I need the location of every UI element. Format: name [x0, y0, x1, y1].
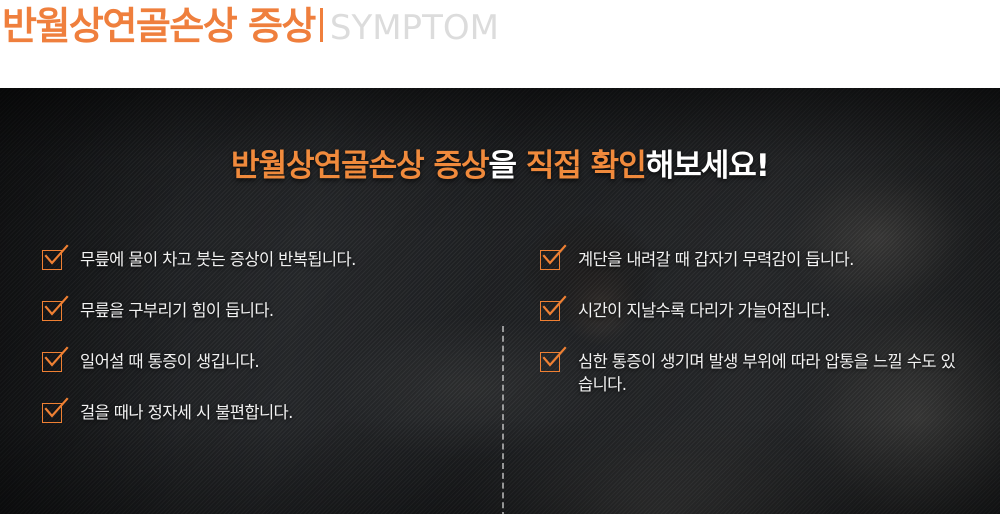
- list-item-label: 심한 통증이 생기며 발생 부위에 따라 압통을 느낄 수도 있습니다.: [578, 350, 960, 397]
- headline-segment-4: 해보세요!: [646, 148, 769, 184]
- symptom-banner: 반월상연골손상 증상을 직접 확인해보세요! 무릎에 물이 차고 붓는 증상이 …: [0, 88, 1000, 514]
- list-item: 심한 통증이 생기며 발생 부위에 따라 압통을 느낄 수도 있습니다.: [540, 350, 960, 397]
- list-item: 걸을 때나 정자세 시 불편합니다.: [42, 401, 472, 425]
- headline-segment-3: 직접 확인: [526, 148, 646, 184]
- page-root: 반월상연골손상 증상 SYMPTOM 반월상연골손상 증상을 직접 확인해보세요…: [0, 0, 1000, 514]
- list-item: 계단을 내려갈 때 갑자기 무력감이 듭니다.: [540, 248, 960, 272]
- list-item: 무릎에 물이 차고 붓는 증상이 반복됩니다.: [42, 248, 472, 272]
- checkbox-checked-icon: [42, 250, 64, 272]
- page-title-sub: SYMPTOM: [330, 9, 499, 48]
- list-item-label: 시간이 지날수록 다리가 가늘어집니다.: [578, 299, 830, 322]
- list-item-label: 일어설 때 통증이 생깁니다.: [80, 350, 259, 373]
- checkbox-checked-icon: [540, 301, 562, 323]
- symptom-columns: 무릎에 물이 차고 붓는 증상이 반복됩니다. 무릎을 구부리기 힘이 듭니다.: [0, 248, 1000, 514]
- list-item: 무릎을 구부리기 힘이 듭니다.: [42, 299, 472, 323]
- list-item-label: 무릎을 구부리기 힘이 듭니다.: [80, 299, 274, 322]
- checkbox-checked-icon: [42, 352, 64, 374]
- list-item: 일어설 때 통증이 생깁니다.: [42, 350, 472, 374]
- page-title-main: 반월상연골손상 증상: [2, 5, 315, 49]
- list-item-label: 계단을 내려갈 때 갑자기 무력감이 듭니다.: [578, 248, 854, 271]
- checkbox-checked-icon: [540, 250, 562, 272]
- headline-segment-1: 반월상연골손상 증상: [231, 148, 488, 184]
- checkbox-checked-icon: [42, 403, 64, 425]
- page-title: 반월상연골손상 증상 SYMPTOM: [0, 0, 499, 49]
- checkbox-checked-icon: [540, 352, 562, 374]
- list-item-label: 무릎에 물이 차고 붓는 증상이 반복됩니다.: [80, 248, 356, 271]
- list-item: 시간이 지날수록 다리가 가늘어집니다.: [540, 299, 960, 323]
- symptom-column-right: 계단을 내려갈 때 갑자기 무력감이 듭니다. 시간이 지날수록 다리가 가늘어…: [540, 248, 960, 424]
- banner-content: 반월상연골손상 증상을 직접 확인해보세요! 무릎에 물이 차고 붓는 증상이 …: [0, 88, 1000, 514]
- list-item-label: 걸을 때나 정자세 시 불편합니다.: [80, 401, 293, 424]
- checkbox-checked-icon: [42, 301, 64, 323]
- title-divider-bar: [320, 8, 323, 42]
- page-header: 반월상연골손상 증상 SYMPTOM: [0, 0, 1000, 88]
- headline-segment-2: 을: [489, 148, 526, 184]
- banner-headline: 반월상연골손상 증상을 직접 확인해보세요!: [0, 148, 1000, 185]
- symptom-column-left: 무릎에 물이 차고 붓는 증상이 반복됩니다. 무릎을 구부리기 힘이 듭니다.: [42, 248, 472, 452]
